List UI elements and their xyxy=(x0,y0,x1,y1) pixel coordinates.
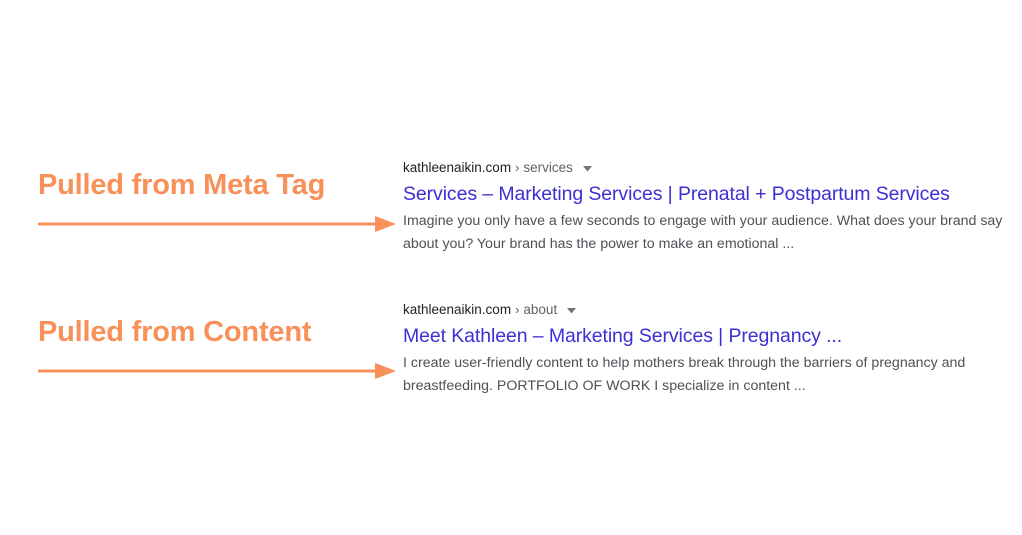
result-breadcrumb[interactable]: kathleenaikin.com › about xyxy=(403,300,1003,320)
annotation-meta-tag: Pulled from Meta Tag xyxy=(38,170,398,233)
arrow-right-icon xyxy=(38,215,398,233)
search-results-list: kathleenaikin.com › services Services – … xyxy=(403,158,1003,398)
result-breadcrumb[interactable]: kathleenaikin.com › services xyxy=(403,158,1003,178)
annotation-content-label: Pulled from Content xyxy=(38,317,398,349)
search-result-item: kathleenaikin.com › about Meet Kathleen … xyxy=(403,300,1003,398)
result-path: about xyxy=(523,300,557,320)
result-domain: kathleenaikin.com xyxy=(403,158,511,178)
arrow-right-icon xyxy=(38,362,398,380)
annotation-meta-tag-label: Pulled from Meta Tag xyxy=(38,170,398,202)
result-domain: kathleenaikin.com xyxy=(403,300,511,320)
result-title-link[interactable]: Services – Marketing Services | Prenatal… xyxy=(403,181,1003,207)
chevron-down-icon[interactable] xyxy=(566,305,577,316)
annotation-content: Pulled from Content xyxy=(38,317,398,380)
breadcrumb-separator: › xyxy=(515,300,519,320)
result-snippet: I create user-friendly content to help m… xyxy=(403,352,1003,398)
search-result-item: kathleenaikin.com › services Services – … xyxy=(403,158,1003,256)
result-title-link[interactable]: Meet Kathleen – Marketing Services | Pre… xyxy=(403,323,1003,349)
chevron-down-icon[interactable] xyxy=(582,163,593,174)
result-snippet: Imagine you only have a few seconds to e… xyxy=(403,210,1003,256)
breadcrumb-separator: › xyxy=(515,158,519,178)
result-path: services xyxy=(523,158,573,178)
